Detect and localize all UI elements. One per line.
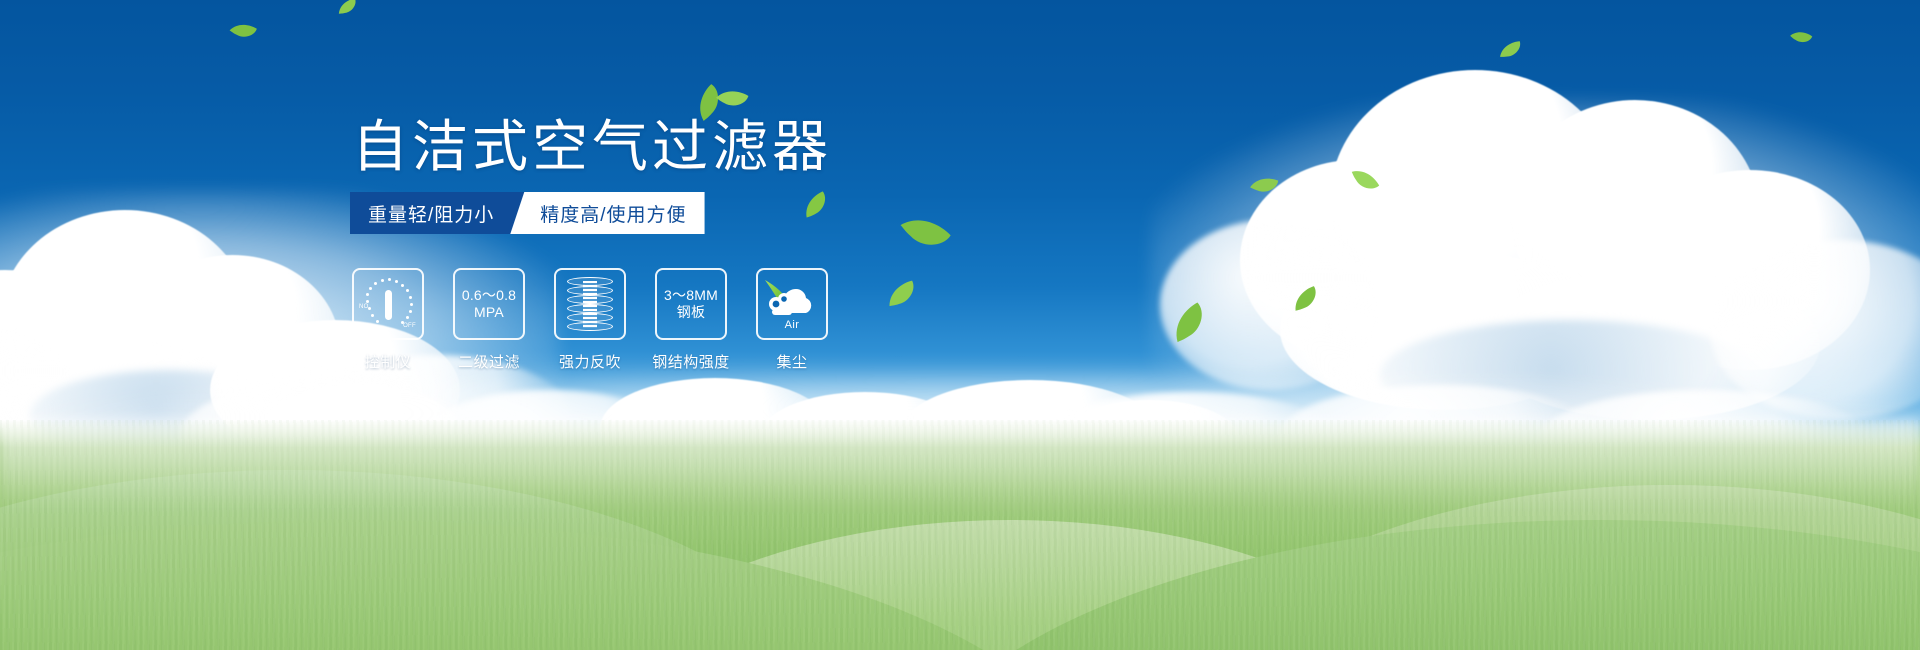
feature-strong-backblow[interactable]: 强力反吹 bbox=[554, 268, 626, 372]
air-caption: Air bbox=[762, 319, 822, 331]
feature-icon-box: 3〜8MM 钢板 bbox=[655, 268, 727, 340]
page-title: 自洁式空气过滤器 bbox=[352, 118, 832, 177]
hero-banner: 自洁式空气过滤器 重量轻/阻力小 精度高/使用方便 bbox=[0, 0, 1920, 650]
tab-precision-convenience[interactable]: 精度高/使用方便 bbox=[510, 192, 704, 234]
steel-thickness: 3〜8MM bbox=[664, 287, 718, 304]
pressure-unit: MPA bbox=[474, 304, 504, 321]
feature-icon-box: NO OFF bbox=[352, 268, 424, 340]
cloud-air-icon: Air bbox=[762, 278, 822, 330]
pressure-value: 0.6〜0.8 bbox=[462, 287, 516, 304]
gauge-icon: NO OFF bbox=[359, 278, 417, 330]
feature-icon-box bbox=[554, 268, 626, 340]
feature-icon-box: Air bbox=[756, 268, 828, 340]
tab-weight-resistance[interactable]: 重量轻/阻力小 bbox=[350, 192, 524, 234]
feature-label: 二级过滤 bbox=[458, 351, 520, 372]
feature-label: 控制仪 bbox=[365, 351, 412, 372]
steel-material: 钢板 bbox=[677, 304, 705, 321]
feature-two-stage-filter[interactable]: 0.6〜0.8 MPA 二级过滤 bbox=[453, 268, 525, 372]
feature-icon-row: NO OFF 控制仪 0.6〜0.8 MPA 二级过滤 bbox=[352, 268, 828, 372]
gauge-label-no: NO bbox=[359, 304, 369, 310]
gauge-label-off: OFF bbox=[403, 323, 416, 329]
feature-label: 强力反吹 bbox=[559, 351, 621, 372]
feature-controller[interactable]: NO OFF 控制仪 bbox=[352, 268, 424, 372]
feature-icon-box: 0.6〜0.8 MPA bbox=[453, 268, 525, 340]
feature-dust-collection[interactable]: Air 集尘 bbox=[756, 268, 828, 372]
feature-label: 集尘 bbox=[776, 351, 807, 372]
filter-stack-icon bbox=[565, 277, 615, 331]
feature-tabs: 重量轻/阻力小 精度高/使用方便 bbox=[350, 192, 705, 234]
banner-content: 自洁式空气过滤器 重量轻/阻力小 精度高/使用方便 bbox=[0, 0, 1920, 650]
feature-label: 钢结构强度 bbox=[652, 351, 730, 372]
feature-steel-strength[interactable]: 3〜8MM 钢板 钢结构强度 bbox=[655, 268, 727, 372]
